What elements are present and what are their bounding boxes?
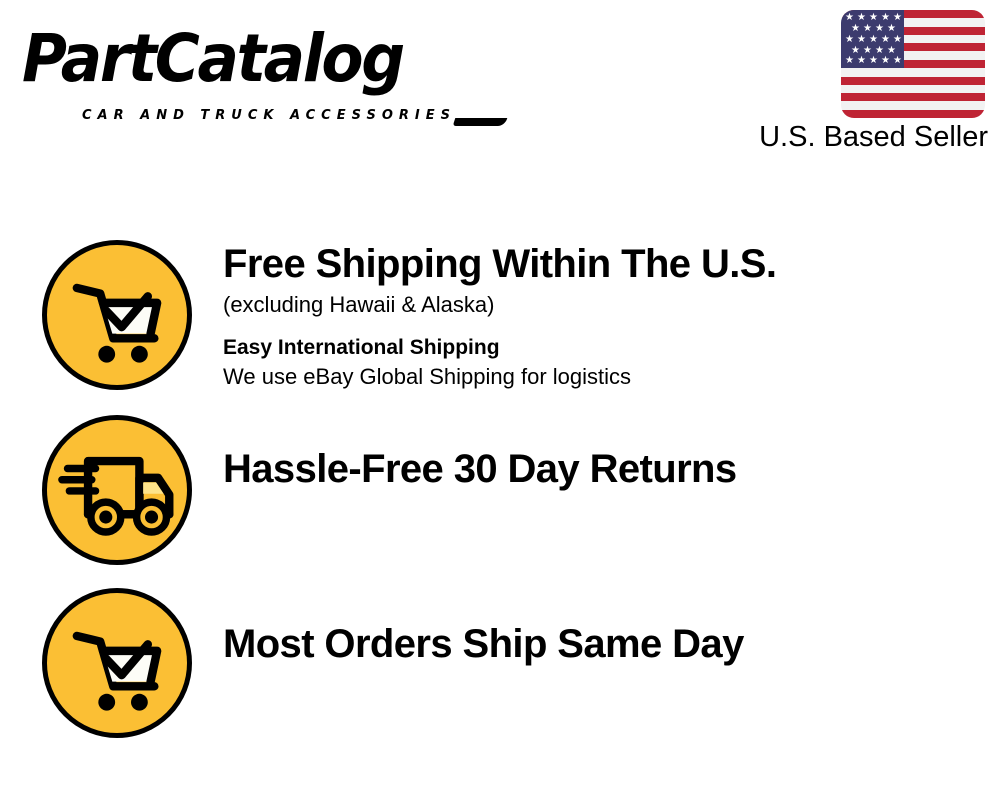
shopping-cart-check-icon: [42, 240, 192, 390]
promo-banner: PartCatalog CAR AND TRUCK ACCESSORIES ★ …: [0, 0, 1000, 800]
benefit-heading: Most Orders Ship Same Day: [223, 620, 983, 668]
benefit-heading: Free Shipping Within The U.S.: [223, 240, 983, 288]
benefit-text-returns: Hassle-Free 30 Day Returns: [223, 445, 983, 493]
brand-tagline: CAR AND TRUCK ACCESSORIES: [82, 108, 456, 123]
us-flag-icon: ★ ★ ★ ★ ★ ★ ★ ★ ★ ★ ★ ★ ★ ★ ★ ★ ★ ★ ★ ★ …: [841, 10, 985, 118]
benefit-detail: We use eBay Global Shipping for logistic…: [223, 362, 983, 392]
brand-logo: PartCatalog CAR AND TRUCK ACCESSORIES: [22, 22, 492, 117]
us-based-seller-label: U.S. Based Seller: [726, 119, 988, 155]
delivery-truck-icon: [42, 415, 192, 565]
benefit-heading: Hassle-Free 30 Day Returns: [223, 445, 983, 493]
logo-swoosh-icon: [453, 118, 508, 126]
benefit-text-same-day: Most Orders Ship Same Day: [223, 620, 983, 668]
benefit-subheading: Easy International Shipping: [223, 334, 983, 362]
benefit-text-free-shipping: Free Shipping Within The U.S. (excluding…: [223, 240, 983, 392]
brand-wordmark: PartCatalog: [22, 22, 459, 96]
benefit-note: (excluding Hawaii & Alaska): [223, 290, 983, 320]
shopping-cart-check-icon: [42, 588, 192, 738]
flag-canton: ★ ★ ★ ★ ★ ★ ★ ★ ★ ★ ★ ★ ★ ★ ★ ★ ★ ★ ★ ★ …: [841, 10, 904, 68]
